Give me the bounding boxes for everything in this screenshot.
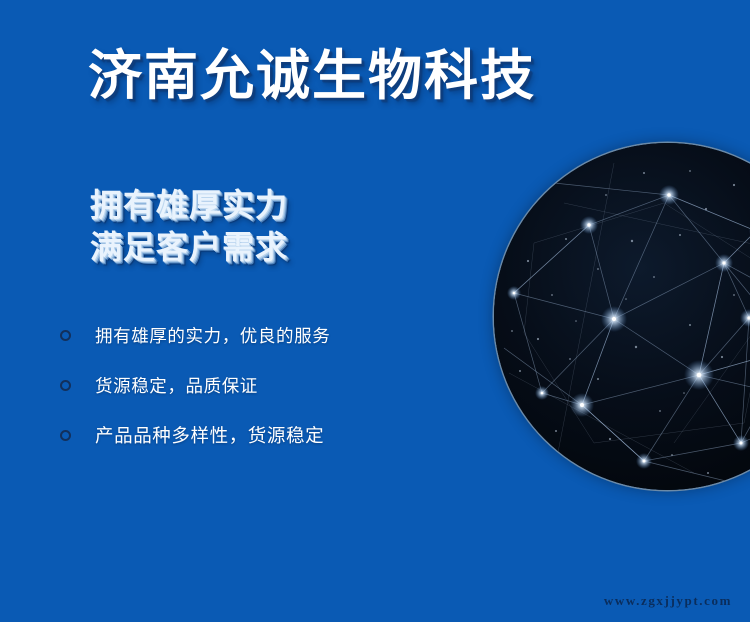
list-item-label: 拥有雄厚的实力，优良的服务 xyxy=(95,323,330,348)
sub-headline-line-1: 拥有雄厚实力 xyxy=(90,184,288,226)
list-item: 货源稳定，品质保证 xyxy=(60,360,460,410)
circle-outline-icon xyxy=(60,330,71,341)
constellation-svg xyxy=(494,143,750,490)
site-watermark: www.zgxjjypt.com xyxy=(604,593,732,609)
circle-outline-icon xyxy=(60,380,71,391)
page-title: 济南允诚生物科技 xyxy=(88,47,536,105)
circle-outline-icon xyxy=(60,430,71,441)
list-item-label: 产品品种多样性，货源稳定 xyxy=(95,422,324,448)
feature-list: 拥有雄厚的实力，优良的服务 货源稳定，品质保证 产品品种多样性，货源稳定 xyxy=(60,310,460,460)
sub-headline-line-2: 满足客户需求 xyxy=(90,226,288,268)
sub-headline: 拥有雄厚实力 满足客户需求 xyxy=(90,184,288,268)
list-item-label: 货源稳定，品质保证 xyxy=(95,373,258,398)
list-item: 产品品种多样性，货源稳定 xyxy=(60,410,460,460)
list-item: 拥有雄厚的实力，优良的服务 xyxy=(60,310,460,360)
network-constellation-graphic xyxy=(494,143,750,490)
promotional-banner: 济南允诚生物科技 拥有雄厚实力 满足客户需求 拥有雄厚的实力，优良的服务 货源稳… xyxy=(0,0,750,622)
